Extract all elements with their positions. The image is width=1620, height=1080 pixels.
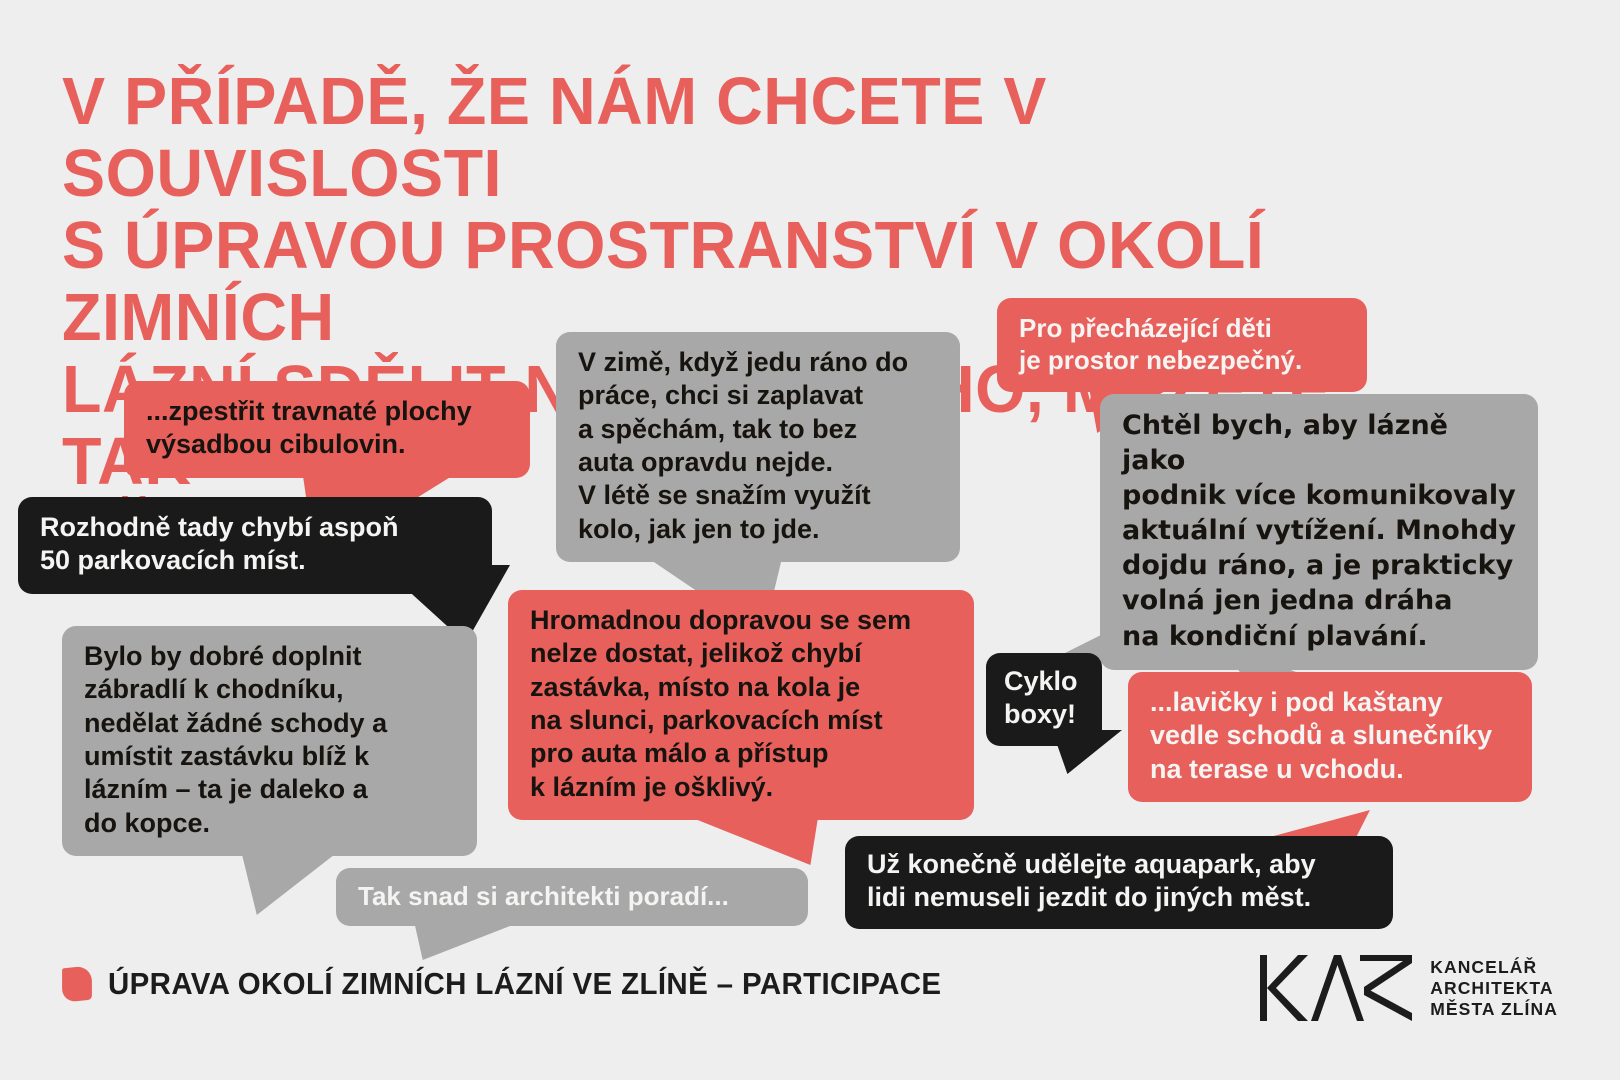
speech-bubble-rozhodne: Rozhodně tady chybí aspoň 50 parkovacích… [18,497,492,594]
poster-canvas: V případě, že nám chcete v souvislosti s… [0,0,1620,1080]
speech-bubble-vzime: V zimě, když jedu ráno do práce, chci si… [556,332,960,562]
speech-bubble-aquapark: Už konečně udělejte aquapark, aby lidi n… [845,836,1393,929]
speech-bubble-cyklo: Cyklo boxy! [986,653,1102,746]
footer-project-title: Úprava okolí zimních lázní ve Zlíně – pa… [108,966,941,1002]
speech-bubble-taksnad: Tak snad si architekti poradí... [336,868,808,926]
speech-bubble-lavicky: ...lavičky i pod kaštany vedle schodů a … [1128,672,1532,802]
leaf-mark-icon [62,965,92,1002]
speech-bubble-chtel: Chtěl bych, aby lázně jako podnik více k… [1100,394,1538,670]
footer: Úprava okolí zimních lázní ve Zlíně – pa… [62,966,985,1002]
kaz-logo: Kancelář Architekta Města Zlína [1260,955,1558,1021]
speech-bubble-zpestrit: ...zpestřit travnaté plochy výsadbou cib… [124,381,530,478]
kaz-logo-mark-icon [1260,955,1412,1021]
kaz-logo-wordmark: Kancelář Architekta Města Zlína [1430,955,1558,1020]
speech-bubble-hromadnou: Hromadnou dopravou se sem nelze dostat, … [508,590,974,820]
speech-bubble-prechazejici: Pro přecházející děti je prostor nebezpe… [997,298,1367,392]
speech-bubble-bylo: Bylo by dobré doplnit zábradlí k chodník… [62,626,477,856]
